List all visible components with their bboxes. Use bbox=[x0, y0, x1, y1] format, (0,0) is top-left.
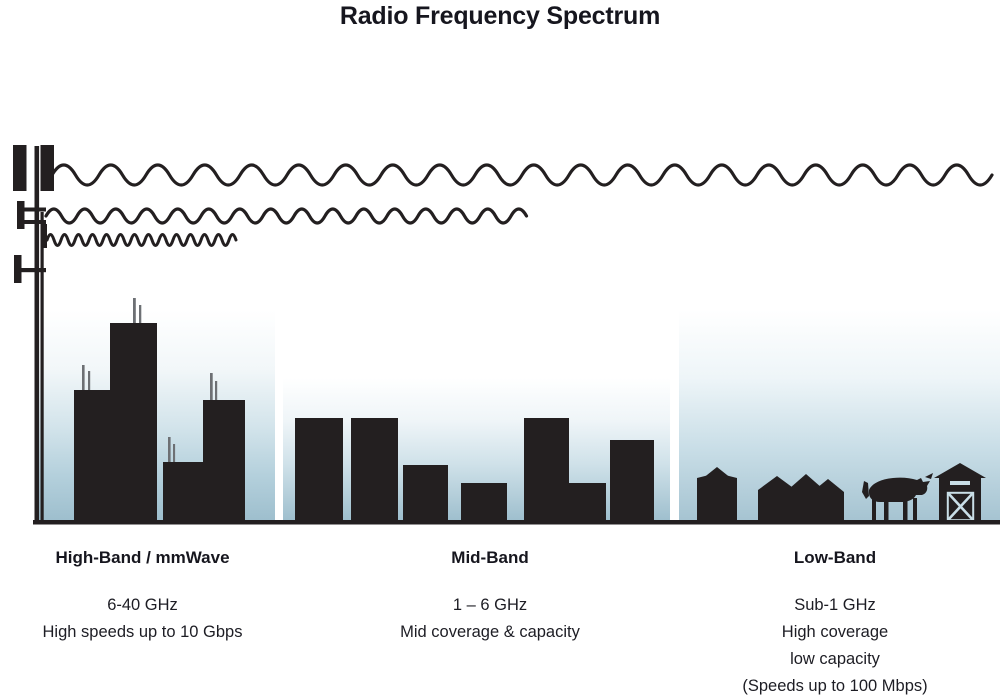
band-label-mid-band: Mid-Band bbox=[330, 548, 650, 568]
spire-icon bbox=[168, 437, 171, 463]
band-desc-line: low capacity bbox=[670, 646, 1000, 673]
band-desc-line: Sub-1 GHz bbox=[670, 592, 1000, 619]
wave-short-wavelength bbox=[47, 235, 236, 246]
band-desc-line: High coverage bbox=[670, 619, 1000, 646]
band-label-high-band: High-Band / mmWave bbox=[0, 548, 285, 568]
spire-icon bbox=[173, 444, 175, 463]
band-description-mid-band: 1 – 6 GHz Mid coverage & capacity bbox=[330, 592, 650, 646]
tower-mast bbox=[35, 146, 40, 522]
spire-icon bbox=[139, 305, 141, 324]
wave-long-wavelength bbox=[52, 165, 992, 185]
infographic-canvas: Radio Frequency Spectrum bbox=[0, 0, 1000, 700]
building-silhouette bbox=[203, 400, 245, 522]
band-desc-line: 6-40 GHz bbox=[0, 592, 285, 619]
spire-icon bbox=[215, 381, 217, 401]
building-silhouette bbox=[295, 418, 343, 522]
tower-antenna-panel-mid bbox=[17, 201, 25, 229]
spire-icon bbox=[82, 365, 85, 391]
building-silhouette bbox=[610, 440, 654, 522]
spire-icon bbox=[210, 373, 213, 401]
tower-crossbar-lower bbox=[14, 268, 46, 272]
band-description-low-band: Sub-1 GHz High coverage low capacity (Sp… bbox=[670, 592, 1000, 700]
band-desc-line: 1 – 6 GHz bbox=[330, 592, 650, 619]
band-desc-line: Mid coverage & capacity bbox=[330, 619, 650, 646]
building-silhouette bbox=[524, 418, 569, 522]
tower-antenna-panel-right bbox=[41, 145, 55, 191]
tower-antenna-panel-small bbox=[41, 224, 47, 248]
band-desc-line: High speeds up to 10 Gbps bbox=[0, 619, 285, 646]
wave-medium-wavelength bbox=[46, 209, 527, 223]
building-silhouette bbox=[163, 462, 204, 522]
barn-loft-window bbox=[950, 481, 970, 485]
radio-waves bbox=[46, 165, 992, 246]
building-silhouette bbox=[461, 483, 507, 522]
band-label-low-band: Low-Band bbox=[670, 548, 1000, 568]
building-silhouette bbox=[568, 483, 606, 522]
building-silhouette bbox=[110, 323, 157, 522]
tower-crossbar-upper bbox=[17, 208, 46, 212]
ground-line bbox=[33, 520, 1000, 525]
spire-icon bbox=[88, 371, 90, 391]
band-description-high-band: 6-40 GHz High speeds up to 10 Gbps bbox=[0, 592, 285, 646]
tower-mast-secondary bbox=[41, 212, 44, 522]
band-desc-line: (Speeds up to 100 Mbps) bbox=[670, 673, 1000, 700]
tower-crossbar-upper-2 bbox=[17, 220, 46, 224]
spire-icon bbox=[133, 298, 136, 324]
tower-antenna-panel-left bbox=[13, 145, 27, 191]
building-silhouette bbox=[351, 418, 398, 522]
building-silhouette bbox=[403, 465, 448, 522]
